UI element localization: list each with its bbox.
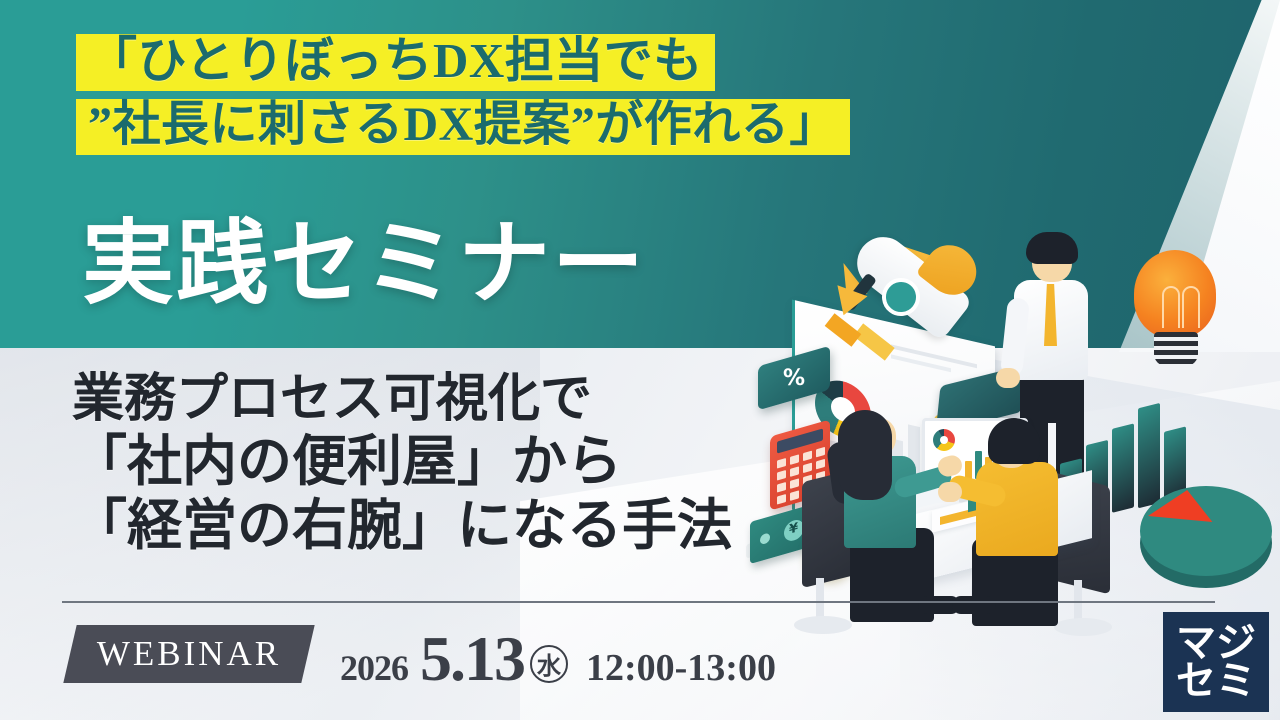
event-datetime: 2026 5.13 水 12:00-13:00 bbox=[340, 622, 776, 686]
subtitle-line-3: 「経営の右腕」になる手法 bbox=[72, 494, 732, 558]
divider bbox=[62, 601, 1215, 603]
seated-man-hair bbox=[988, 418, 1040, 464]
seated-man-hand bbox=[938, 482, 962, 502]
iso-bar bbox=[1112, 423, 1134, 512]
subtitle-line-1: 業務プロセス可視化で bbox=[72, 370, 732, 430]
webinar-banner: % bbox=[0, 0, 1280, 720]
subtitle-line-2: 「社内の便利屋」から bbox=[72, 430, 732, 494]
logo-line-2: セミ bbox=[1176, 662, 1256, 700]
event-day-of-week: 水 bbox=[530, 645, 568, 683]
business-illustration: % bbox=[742, 228, 1280, 628]
page-title: 実践セミナー bbox=[82, 218, 646, 310]
subtitle-block: 業務プロセス可視化で 「社内の便利屋」から 「経営の右腕」になる手法 bbox=[72, 370, 732, 558]
webinar-label: WEBINAR bbox=[70, 625, 308, 683]
brand-logo: マジ セミ bbox=[1163, 612, 1269, 712]
headline-highlight-row-2: ”社長に刺さるDX提案”が作れる」 bbox=[76, 99, 850, 155]
seated-man-shoe bbox=[952, 596, 996, 614]
headline-block: 「ひとりぼっちDX担当でも ”社長に刺さるDX提案”が作れる」 bbox=[76, 34, 1280, 163]
webinar-tag: WEBINAR bbox=[63, 625, 314, 683]
monitor-donut-chart bbox=[933, 429, 955, 451]
chair-left-foot bbox=[794, 616, 852, 634]
iso-pie-chart-icon bbox=[1140, 486, 1272, 576]
chair-right-foot bbox=[1054, 618, 1112, 636]
event-time: 12:00-13:00 bbox=[586, 646, 776, 690]
headline-line-2: ”社長に刺さるDX提案”が作れる」 bbox=[88, 101, 838, 149]
seated-woman-hair bbox=[838, 410, 892, 500]
headline-line-1: 「ひとりぼっちDX担当でも bbox=[88, 36, 703, 85]
headline-highlight-row-1: 「ひとりぼっちDX担当でも bbox=[76, 34, 715, 91]
event-year: 2026 bbox=[340, 647, 408, 689]
iso-bar bbox=[1138, 403, 1160, 508]
event-day: 5.13 bbox=[420, 622, 524, 696]
seated-man-body bbox=[976, 462, 1058, 556]
logo-line-1: マジ bbox=[1176, 624, 1256, 662]
